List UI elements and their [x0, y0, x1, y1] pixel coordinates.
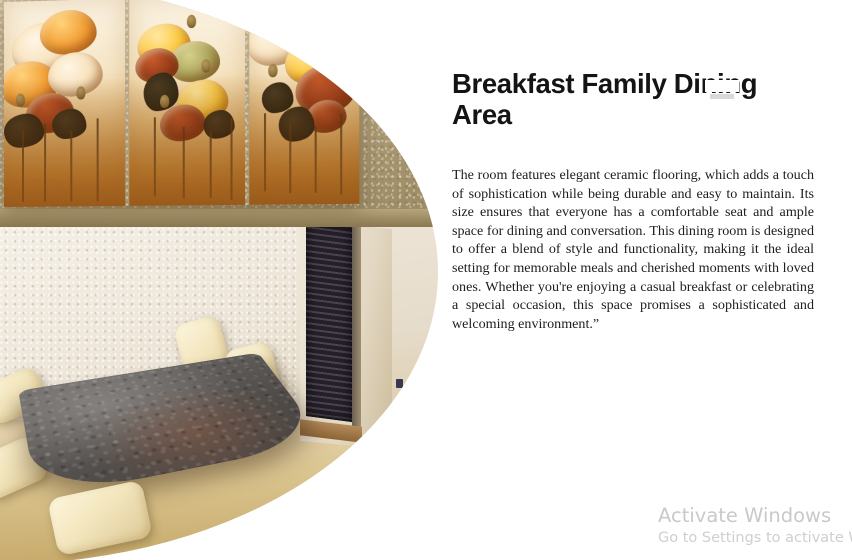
body-paragraph: The room features elegant ceramic floori…: [452, 166, 814, 333]
slide-canvas: Breakfast Family Dining Area The room fe…: [0, 0, 852, 560]
page-title: Breakfast Family Dining Area: [452, 68, 814, 130]
text-column: Breakfast Family Dining Area The room fe…: [452, 68, 814, 333]
painting-panel-right: [249, 0, 359, 205]
watermark-subtitle: Go to Settings to activate Wir: [658, 528, 852, 548]
wall-ledge: [0, 209, 438, 227]
watermark-title: Activate Windows: [658, 503, 852, 528]
wall-switch: [396, 379, 403, 388]
floral-triptych-photo: [0, 0, 438, 227]
dining-table-photo: [0, 227, 438, 560]
louvered-door: [306, 227, 352, 422]
windows-activation-watermark: Activate Windows Go to Settings to activ…: [658, 503, 852, 548]
painting-panel-center: [129, 0, 245, 206]
painting-panel-left: [4, 0, 125, 207]
door-jamb: [352, 227, 361, 429]
media-stack: [0, 0, 438, 560]
triptych-painting: [4, 0, 359, 207]
